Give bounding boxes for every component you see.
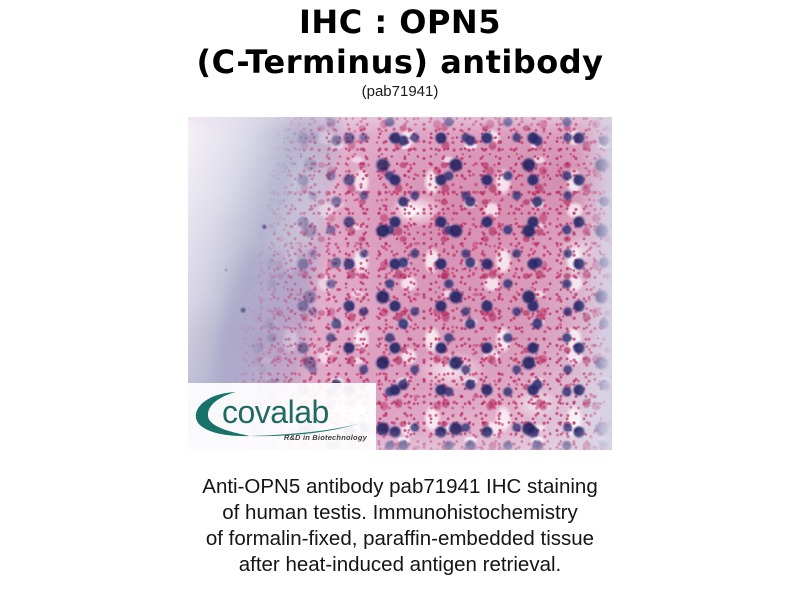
catalog-number: (pab71941) [0, 83, 800, 101]
caption-line: of human testis. Immunohistochemistry [0, 500, 800, 526]
covalab-logo-mark: covalab [192, 387, 372, 439]
caption-line: Anti-OPN5 antibody pab71941 IHC staining [0, 474, 800, 500]
title-line-primary: IHC : OPN5 [0, 2, 800, 42]
caption-line: after heat-induced antigen retrieval. [0, 552, 800, 578]
logo-tagline: R&D in Biotechnology [284, 433, 367, 442]
logo-wordmark: covalab [222, 394, 329, 430]
covalab-logo-watermark: covalab R&D in Biotechnology [188, 383, 376, 450]
figure-header: IHC : OPN5 (C-Terminus) antibody (pab719… [0, 2, 800, 101]
title-line-secondary: (C-Terminus) antibody [0, 42, 800, 82]
caption-line: of formalin-fixed, paraffin-embedded tis… [0, 526, 800, 552]
figure-caption: Anti-OPN5 antibody pab71941 IHC staining… [0, 474, 800, 578]
ihc-micrograph: covalab R&D in Biotechnology [188, 117, 612, 450]
